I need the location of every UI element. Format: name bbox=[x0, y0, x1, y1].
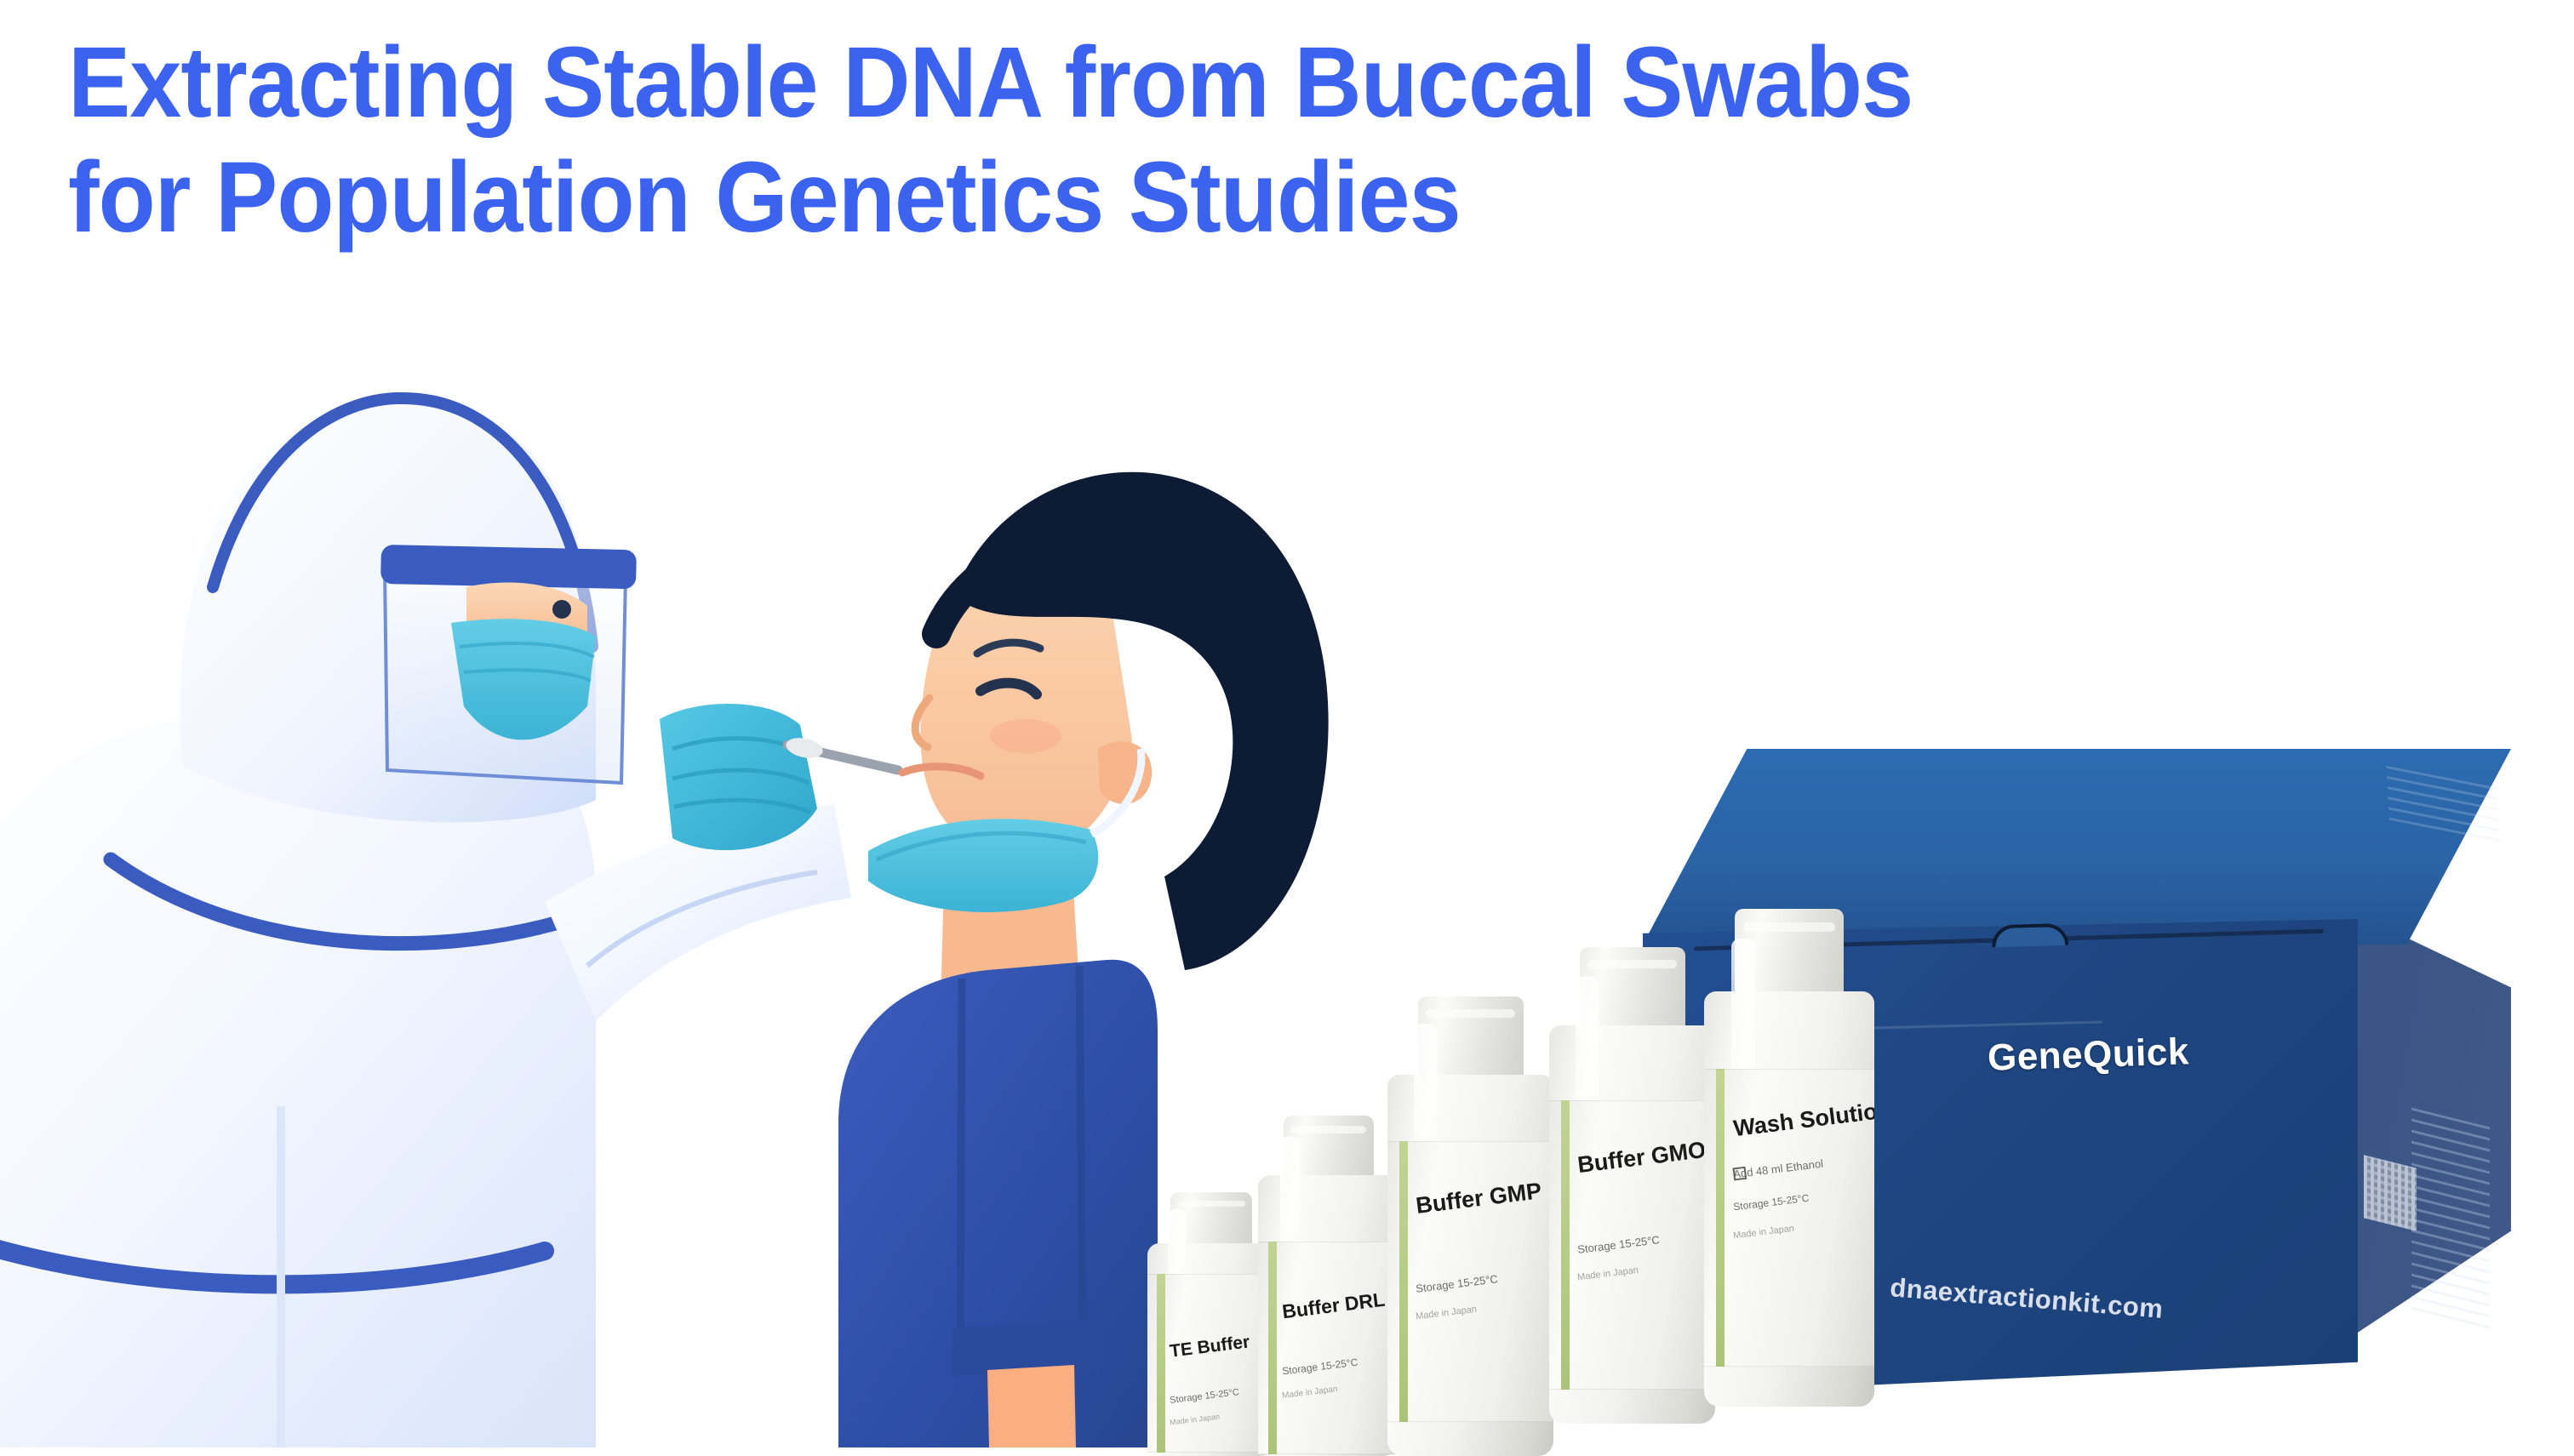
checkbox-icon bbox=[1732, 1167, 1747, 1181]
kit-box-brand-label: GeneQuick bbox=[1987, 1031, 2189, 1079]
bottle-label-origin: Made in Japan bbox=[1733, 1224, 1795, 1242]
bottle-label-origin: Made in Japan bbox=[1416, 1305, 1478, 1322]
bottle-label-name: Buffer GMP bbox=[1415, 1178, 1543, 1219]
healthcare-worker-figure bbox=[0, 398, 851, 1447]
bottle-label: Buffer GMP Storage 15-25°C Made in Japan bbox=[1387, 1141, 1553, 1422]
bottle-label-name: Buffer GMO bbox=[1576, 1137, 1707, 1179]
bottle-label-storage: Storage 15-25°C bbox=[1282, 1356, 1359, 1378]
page-title-line-1: Extracting Stable DNA from Buccal Swabs bbox=[68, 26, 2364, 140]
reagent-bottle-te-buffer: TE Buffer Storage 15-25°C Made in Japan bbox=[1147, 1192, 1275, 1456]
dna-extraction-kit-product-photo: GeneQuick dnaextractionkit.com TE Buffer… bbox=[1132, 749, 2574, 1447]
kit-box-side-text-block bbox=[2411, 1105, 2490, 1329]
bottle-label: Wash Solution Add 48 ml Ethanol Storage … bbox=[1704, 1069, 1874, 1367]
bottle-label-origin: Made in Japan bbox=[1577, 1265, 1639, 1283]
bottle-label-green-bar bbox=[1561, 1100, 1570, 1390]
bottle-label-green-bar bbox=[1157, 1274, 1165, 1453]
bottle-label-name: Wash Solution bbox=[1732, 1097, 1874, 1142]
bottle-label-storage: Storage 15-25°C bbox=[1169, 1387, 1239, 1406]
reagent-bottle-buffer-gmo: Buffer GMO Storage 15-25°C Made in Japan bbox=[1549, 947, 1715, 1424]
bottle-label-storage: Storage 15-25°C bbox=[1416, 1272, 1499, 1295]
reagent-bottle-buffer-drl: Buffer DRL Storage 15-25°C Made in Japan bbox=[1258, 1116, 1399, 1456]
bottle-label-origin: Made in Japan bbox=[1282, 1385, 1338, 1401]
bottle-label-storage: Storage 15-25°C bbox=[1577, 1233, 1661, 1256]
qr-code-icon bbox=[2364, 1155, 2417, 1230]
page-title: Extracting Stable DNA from Buccal Swabs … bbox=[68, 26, 2537, 254]
bottle-label-green-bar bbox=[1268, 1242, 1277, 1454]
bottle-label-origin: Made in Japan bbox=[1169, 1412, 1220, 1426]
reagent-bottle-wash-solution: Wash Solution Add 48 ml Ethanol Storage … bbox=[1704, 909, 1874, 1407]
bottle-label-storage: Storage 15-25°C bbox=[1732, 1192, 1810, 1213]
bottle-cap bbox=[1735, 909, 1844, 1004]
bottle-label-ethanol-note: Add 48 ml Ethanol bbox=[1732, 1157, 1823, 1181]
bottle-cap bbox=[1418, 996, 1524, 1085]
bottle-label-green-bar bbox=[1399, 1141, 1408, 1422]
kit-box-thumb-notch bbox=[1992, 923, 2069, 948]
bottle-label: Buffer DRL Storage 15-25°C Made in Japan bbox=[1258, 1242, 1399, 1454]
page-title-line-2: for Population Genetics Studies bbox=[68, 140, 2364, 255]
reagent-bottle-buffer-gmp: Buffer GMP Storage 15-25°C Made in Japan bbox=[1387, 996, 1553, 1456]
bottle-label-green-bar bbox=[1716, 1069, 1725, 1367]
bottle-cap bbox=[1580, 947, 1685, 1036]
bottle-label: TE Buffer Storage 15-25°C Made in Japan bbox=[1147, 1274, 1275, 1453]
bottle-label-name: TE Buffer bbox=[1168, 1332, 1250, 1362]
bottle-label-name: Buffer DRL bbox=[1281, 1288, 1387, 1324]
bottle-label: Buffer GMO Storage 15-25°C Made in Japan bbox=[1549, 1100, 1715, 1390]
